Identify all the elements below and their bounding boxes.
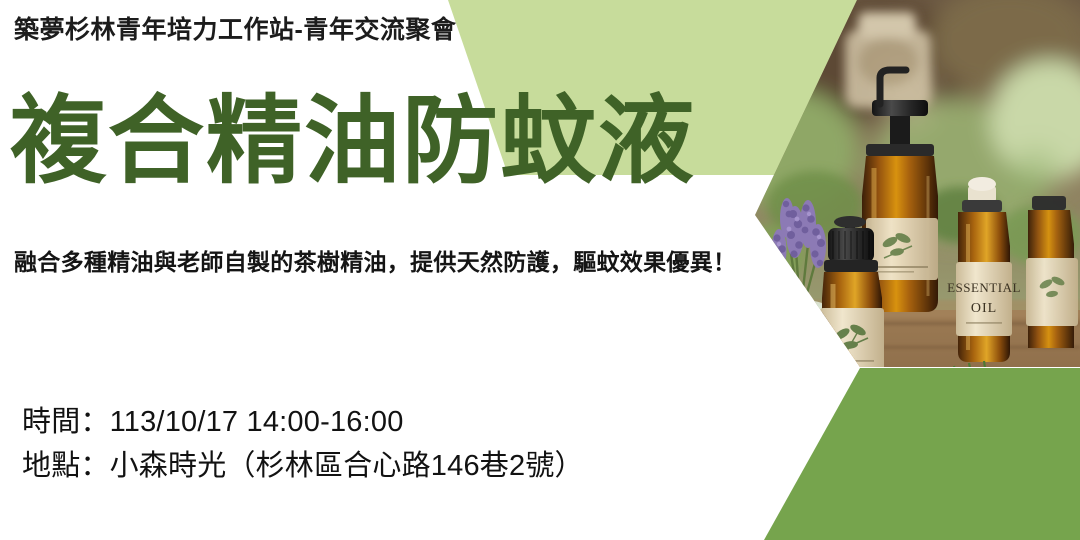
event-time: 時間：113/10/17 14:00-16:00 xyxy=(22,400,584,444)
poster-canvas: ESSENTIAL OIL xyxy=(0,0,1080,540)
event-details: 時間：113/10/17 14:00-16:00 地點：小森時光（杉林區合心路1… xyxy=(22,400,584,488)
page-title: 複合精油防蚊液 xyxy=(10,92,696,193)
subtitle-text: 融合多種精油與老師自製的茶樹精油，提供天然防護，驅蚊效果優異！ xyxy=(14,249,736,277)
event-location: 地點：小森時光（杉林區合心路146巷2號） xyxy=(22,444,584,488)
text-content: 築夢杉林青年培力工作站-青年交流聚會 複合精油防蚊液 融合多種精油與老師自製的茶… xyxy=(0,0,1080,540)
kicker-text: 築夢杉林青年培力工作站-青年交流聚會 xyxy=(14,17,456,45)
